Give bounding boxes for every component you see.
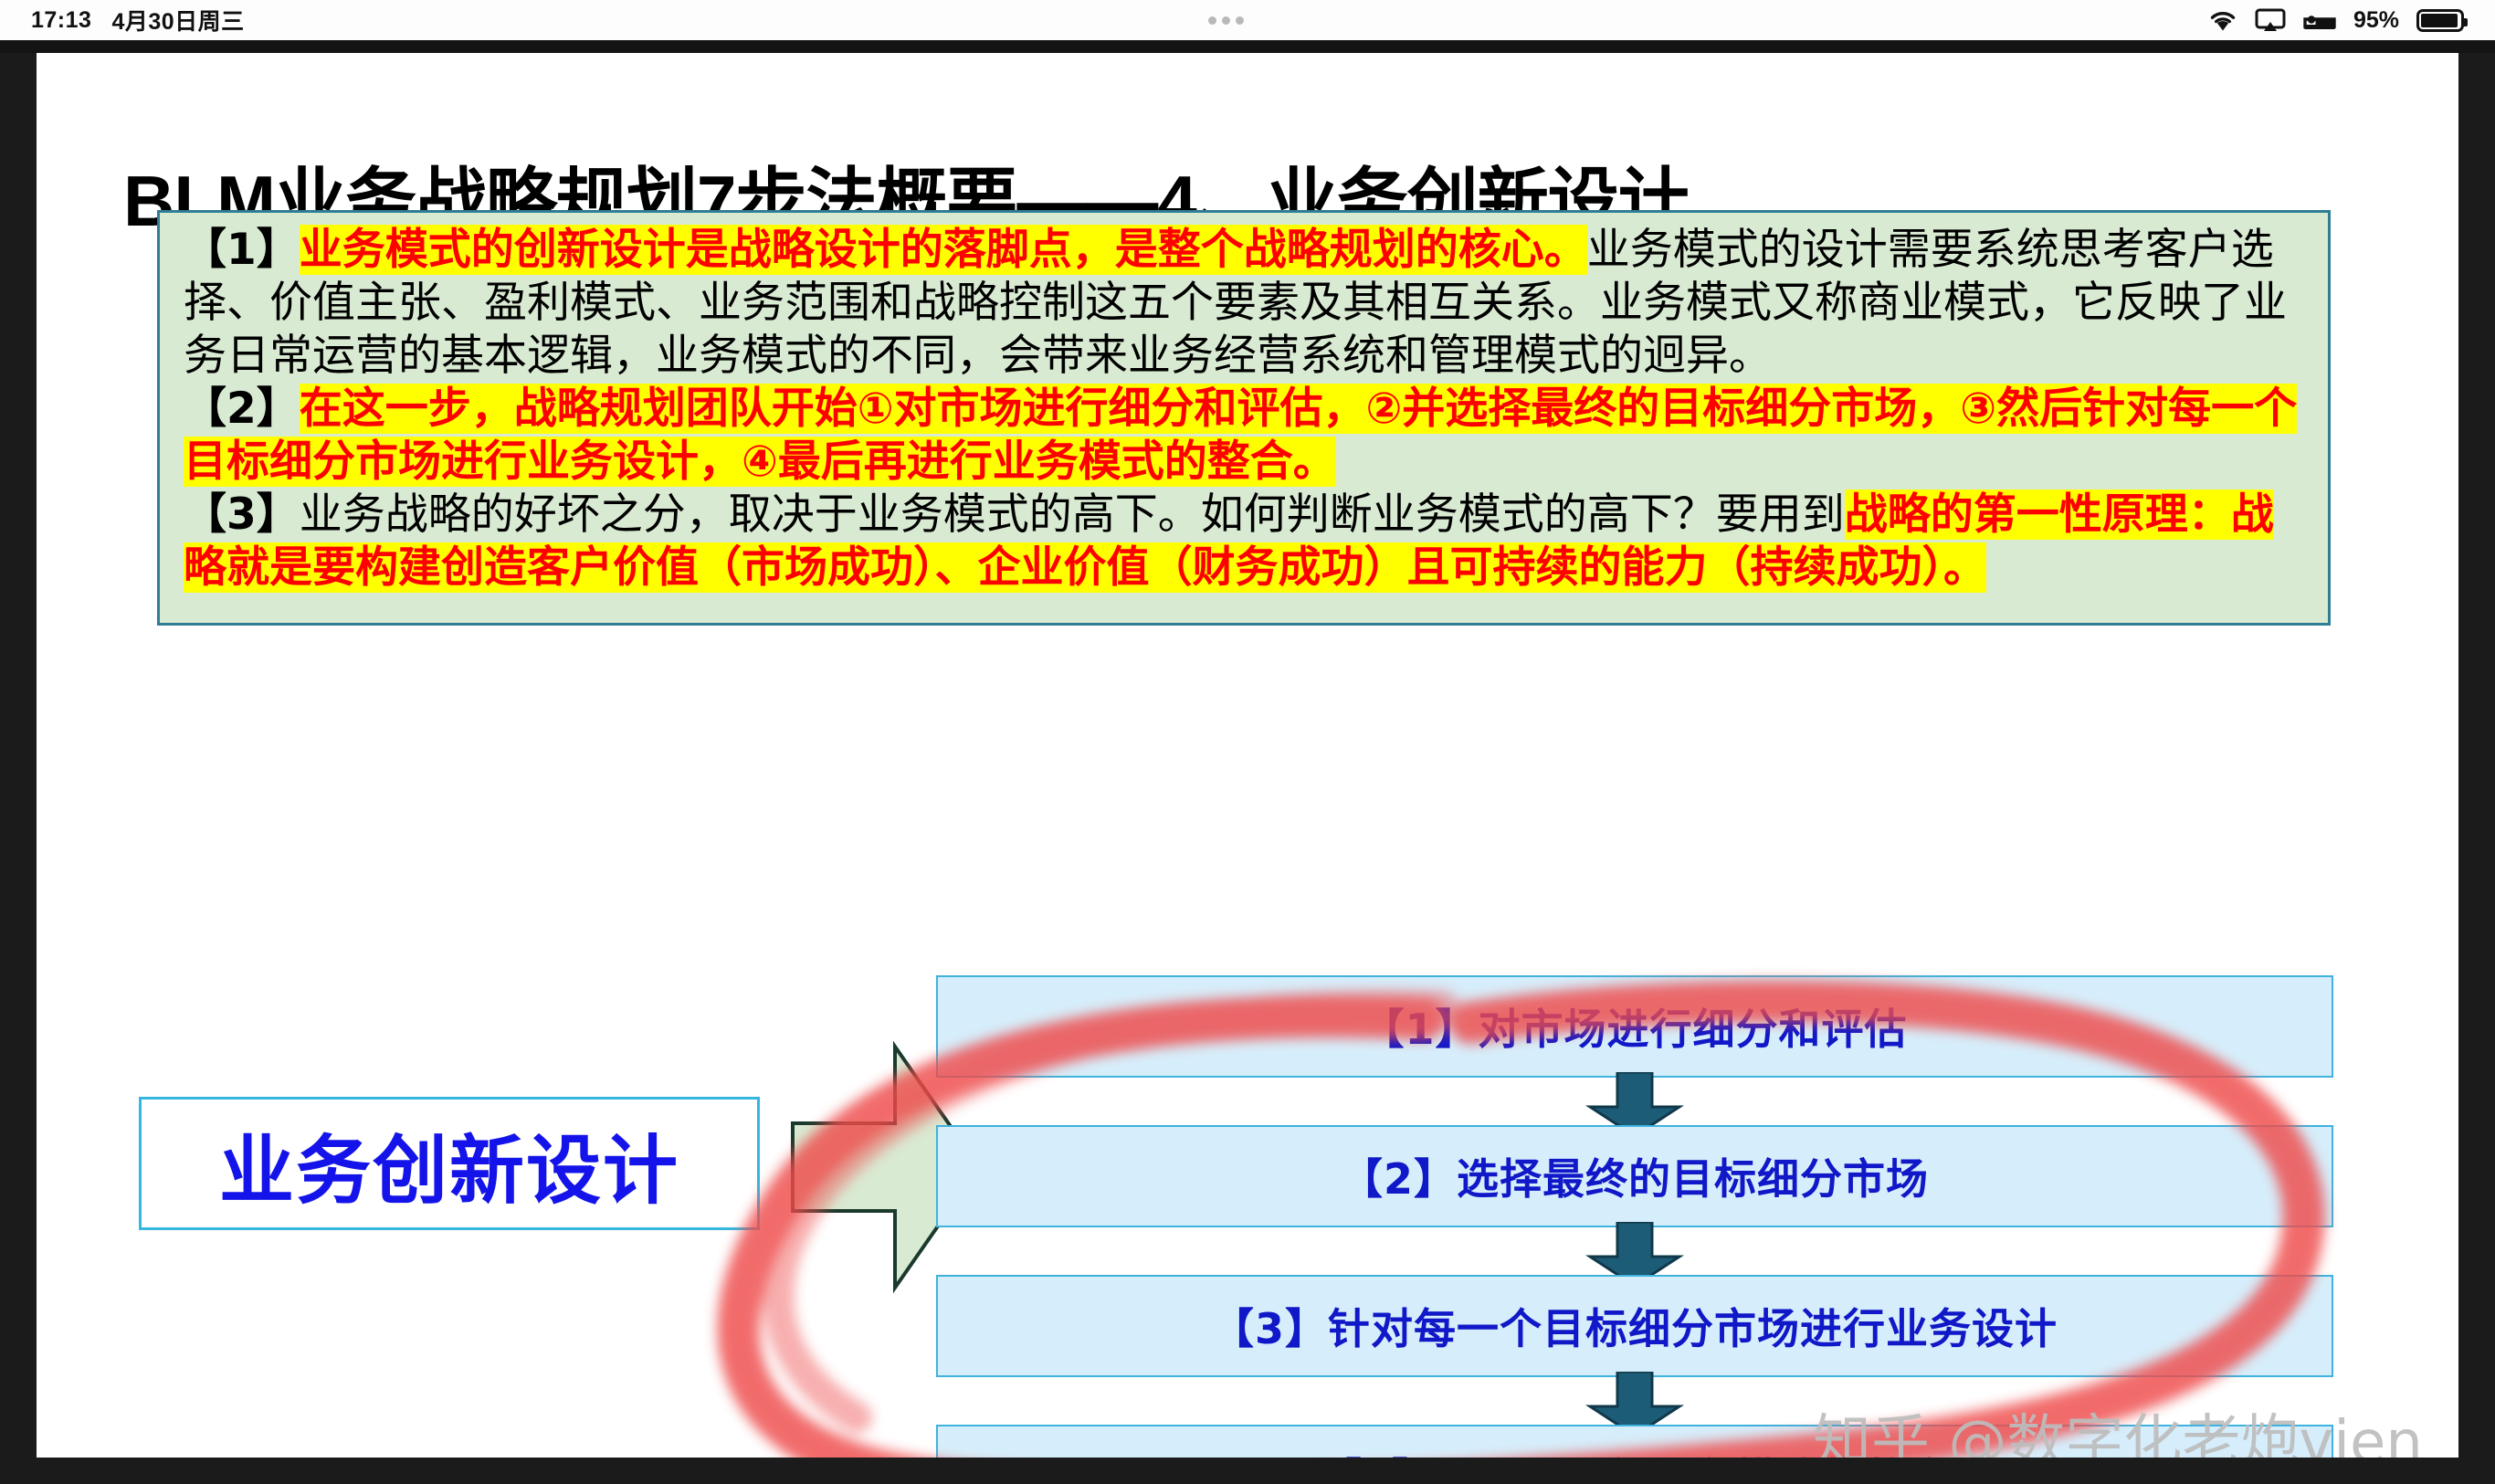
dynamic-island-dots [1208,16,1244,25]
paragraph-1: 【1】业务模式的创新设计是战略设计的落脚点，是整个战略规划的核心。业务模式的设计… [184,224,2304,383]
paragraph-3-body-b: 要用到 [1716,489,1845,540]
paragraph-3-marker: 【3】 [184,489,300,540]
window-top-strip [0,40,2495,53]
paragraph-1-highlight: 业务模式的创新设计是战略设计的落脚点，是整个战略规划的核心。 [300,225,1587,275]
paragraph-2-highlight: 在这一步，战略规划团队开始①对市场进行细分和评估，②并选择最终的目标细分市场，③… [184,384,2297,487]
date-label: 4月30日周三 [111,4,244,37]
status-bar-right: 95% [2208,7,2464,34]
paragraph-2: 【2】在这一步，战略规划团队开始①对市场进行细分和评估，②并选择最终的目标细分市… [184,383,2304,489]
paragraph-3-body-a: 业务战略的好坏之分，取决于业务模式的高下。如何判断业务模式的高下？ [300,489,1716,540]
flow-step-1-label: 【1】对市场进行细分和评估 [1362,996,1907,1057]
status-bar: 17:13 4月30日周三 95% [0,0,2495,40]
airplay-icon[interactable] [2255,8,2286,33]
battery-icon [2416,9,2464,32]
flow-step-2-label: 【2】选择最终的目标细分市场 [1341,1146,1929,1206]
sleep-icon[interactable] [2303,9,2336,31]
flow-connector-2 [936,1227,2333,1275]
clock: 17:13 [31,7,91,34]
description-panel: 【1】业务模式的创新设计是战略设计的落脚点，是整个战略规划的核心。业务模式的设计… [157,210,2331,626]
status-bar-center [245,16,2208,25]
paragraph-1-marker: 【1】 [184,225,300,275]
flow-connector-1 [936,1078,2333,1125]
flow-step-3-label: 【3】针对每一个目标细分市场进行业务设计 [1212,1296,2058,1356]
slide-canvas: BLM业务战略规划7步法概要——4、业务创新设计 【1】业务模式的创新设计是战略… [37,53,2458,1458]
status-bar-left: 17:13 4月30日周三 [31,4,245,37]
watermark: 知乎 @数字化老炮vien [1813,1395,2423,1458]
flow-step-2[interactable]: 【2】选择最终的目标细分市场 [936,1125,2333,1227]
process-flow: 【1】对市场进行细分和评估 【2】选择最终的目标细分市场 【3】针对每一个目标细… [936,975,2333,1458]
flow-step-1[interactable]: 【1】对市场进行细分和评估 [936,975,2333,1078]
wifi-icon[interactable] [2208,8,2237,32]
paragraph-3: 【3】业务战略的好坏之分，取决于业务模式的高下。如何判断业务模式的高下？要用到战… [184,489,2304,595]
battery-percent-label: 95% [2353,7,2399,34]
business-innovation-design-label-text: 业务创新设计 [219,1110,679,1218]
flow-step-3[interactable]: 【3】针对每一个目标细分市场进行业务设计 [936,1275,2333,1377]
paragraph-2-marker: 【2】 [184,384,300,434]
business-innovation-design-label: 业务创新设计 [139,1097,760,1230]
